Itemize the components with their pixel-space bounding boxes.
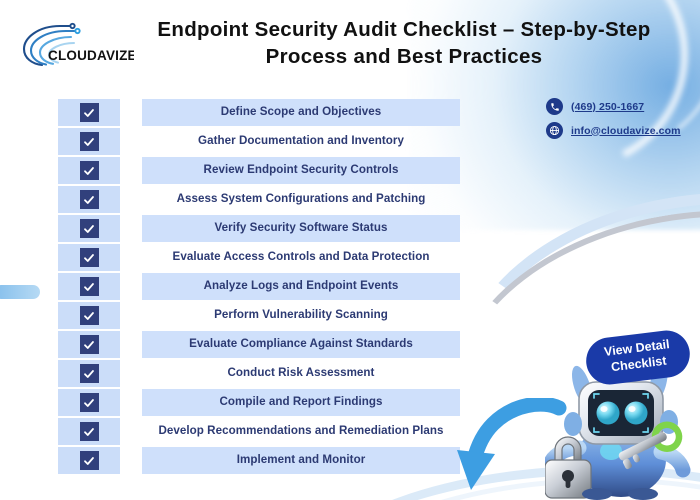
checkbox-cell[interactable] [58,389,120,416]
checklist-item-label: Define Scope and Objectives [142,99,460,126]
row-spacer [120,186,142,213]
checkbox-cell[interactable] [58,128,120,155]
checklist-item-label: Review Endpoint Security Controls [142,157,460,184]
checkmark-icon[interactable] [80,335,99,354]
checklist-row[interactable]: Implement and Monitor [58,447,460,474]
left-edge-accent-bar [0,285,40,299]
row-spacer [120,302,142,329]
checklist-item-label: Verify Security Software Status [142,215,460,242]
checklist-item-label: Perform Vulnerability Scanning [142,302,460,329]
row-spacer [120,418,142,445]
email-address[interactable]: info@cloudavize.com [571,125,681,137]
cloudavize-swoosh-logo: CLOUDAVIZE [14,18,134,70]
globe-icon [546,122,563,139]
checkbox-cell[interactable] [58,244,120,271]
checkbox-cell[interactable] [58,157,120,184]
checklist-item-label: Evaluate Compliance Against Standards [142,331,460,358]
checkmark-icon[interactable] [80,219,99,238]
checkmark-icon[interactable] [80,451,99,470]
page-title: Endpoint Security Audit Checklist – Step… [134,0,700,71]
logo-wordmark: CLOUDAVIZE [48,48,134,63]
row-spacer [120,273,142,300]
checklist-item-label: Develop Recommendations and Remediation … [142,418,460,445]
checkmark-icon[interactable] [80,190,99,209]
checklist-item-label: Conduct Risk Assessment [142,360,460,387]
row-spacer [120,331,142,358]
row-spacer [120,360,142,387]
checkbox-cell[interactable] [58,447,120,474]
row-spacer [120,244,142,271]
checklist-row[interactable]: Evaluate Compliance Against Standards [58,331,460,358]
audit-checklist: Define Scope and ObjectivesGather Docume… [58,99,460,476]
checkmark-icon[interactable] [80,132,99,151]
checklist-row[interactable]: Gather Documentation and Inventory [58,128,460,155]
checklist-item-label: Assess System Configurations and Patchin… [142,186,460,213]
checkmark-icon[interactable] [80,277,99,296]
checklist-row[interactable]: Perform Vulnerability Scanning [58,302,460,329]
cloudavize-logo[interactable]: CLOUDAVIZE [14,18,134,70]
contact-phone-row[interactable]: (469) 250-1667 [546,98,681,115]
checklist-item-label: Compile and Report Findings [142,389,460,416]
checklist-row[interactable]: Define Scope and Objectives [58,99,460,126]
page-header: CLOUDAVIZE Endpoint Security Audit Check… [0,0,700,92]
checklist-row[interactable]: Conduct Risk Assessment [58,360,460,387]
row-spacer [120,215,142,242]
checklist-row[interactable]: Develop Recommendations and Remediation … [58,418,460,445]
checkmark-icon[interactable] [80,306,99,325]
checkbox-cell[interactable] [58,302,120,329]
checklist-row[interactable]: Assess System Configurations and Patchin… [58,186,460,213]
checkbox-cell[interactable] [58,418,120,445]
checklist-row[interactable]: Verify Security Software Status [58,215,460,242]
checklist-row[interactable]: Analyze Logs and Endpoint Events [58,273,460,300]
checkmark-icon[interactable] [80,103,99,122]
checklist-item-label: Implement and Monitor [142,447,460,474]
checkbox-cell[interactable] [58,186,120,213]
checkbox-cell[interactable] [58,273,120,300]
checkbox-cell[interactable] [58,99,120,126]
row-spacer [120,157,142,184]
checklist-row[interactable]: Review Endpoint Security Controls [58,157,460,184]
checklist-item-label: Analyze Logs and Endpoint Events [142,273,460,300]
checkbox-cell[interactable] [58,215,120,242]
checkmark-icon[interactable] [80,248,99,267]
checkbox-cell[interactable] [58,331,120,358]
checkmark-icon[interactable] [80,393,99,412]
checkmark-icon[interactable] [80,161,99,180]
row-spacer [120,99,142,126]
checklist-item-label: Gather Documentation and Inventory [142,128,460,155]
row-spacer [120,389,142,416]
phone-icon [546,98,563,115]
checklist-row[interactable]: Compile and Report Findings [58,389,460,416]
checklist-item-label: Evaluate Access Controls and Data Protec… [142,244,460,271]
contact-info: (469) 250-1667 info@cloudavize.com [546,98,681,139]
phone-number[interactable]: (469) 250-1667 [571,101,644,113]
row-spacer [120,447,142,474]
checklist-row[interactable]: Evaluate Access Controls and Data Protec… [58,244,460,271]
checkmark-icon[interactable] [80,422,99,441]
checkmark-icon[interactable] [80,364,99,383]
contact-email-row[interactable]: info@cloudavize.com [546,122,681,139]
checkbox-cell[interactable] [58,360,120,387]
row-spacer [120,128,142,155]
